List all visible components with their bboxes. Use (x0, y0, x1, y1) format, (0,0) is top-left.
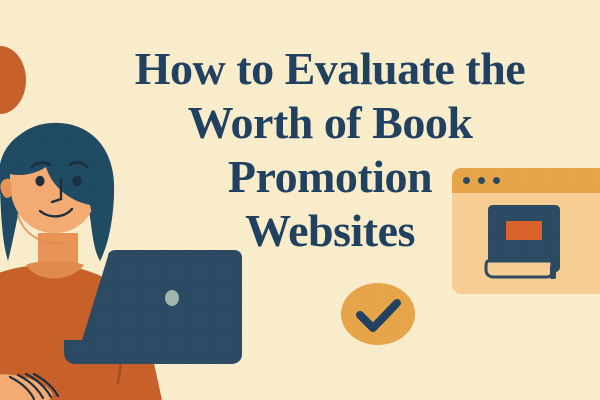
eye-left (35, 176, 44, 186)
laptop-base (64, 340, 242, 364)
page-title: How to Evaluate the Worth of Book Promot… (70, 42, 590, 258)
laptop-illustration (62, 250, 242, 368)
check-badge-circle (341, 283, 415, 345)
banner-canvas: How to Evaluate the Worth of Book Promot… (0, 0, 600, 400)
title-line-3: Promotion (70, 150, 590, 204)
laptop-logo-icon (165, 290, 179, 306)
title-line-2: Worth of Book (70, 96, 590, 150)
book-pages (486, 261, 552, 277)
title-line-4: Websites (70, 204, 590, 258)
book-spine-foot (550, 265, 556, 279)
check-badge (341, 283, 415, 345)
title-line-1: How to Evaluate the (70, 42, 590, 96)
laptop-lid (82, 250, 242, 340)
